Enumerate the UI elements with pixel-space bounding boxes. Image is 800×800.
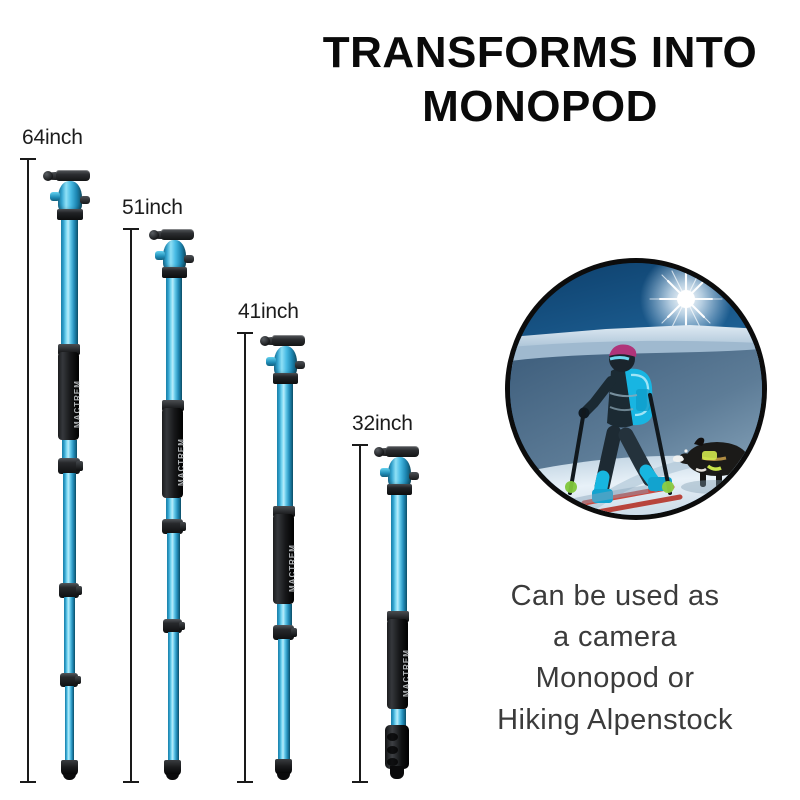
collapsed-lock-notch-2-32 bbox=[387, 746, 398, 754]
flip-lock-1-51[interactable] bbox=[162, 519, 183, 534]
leg-section-1-32 bbox=[391, 495, 407, 613]
quick-release-knob-64 bbox=[43, 171, 53, 181]
foot-tip-51 bbox=[166, 774, 179, 780]
foot-tip-41 bbox=[277, 773, 290, 780]
tension-knob-32 bbox=[409, 472, 419, 480]
dimension-label-51inch: 51inch bbox=[122, 196, 183, 220]
flip-lock-3-64[interactable] bbox=[60, 673, 78, 687]
caption-line-4: Hiking Alpenstock bbox=[440, 700, 790, 741]
flip-lock-lever-1-41[interactable] bbox=[291, 628, 297, 637]
leg-section-3-64 bbox=[63, 473, 76, 585]
caption-line-1: Can be used as bbox=[440, 576, 790, 617]
pan-lock-knob-51 bbox=[155, 251, 165, 260]
brand-text-51: MACTREM bbox=[177, 438, 186, 486]
dimension-rule-51inch bbox=[130, 228, 132, 783]
quick-release-plate-41 bbox=[272, 335, 305, 346]
leg-section-4-51 bbox=[168, 632, 179, 762]
pan-lock-knob-64 bbox=[50, 192, 60, 201]
pan-lock-knob-32 bbox=[380, 468, 390, 477]
headline-line-1: TRANSFORMS INTO bbox=[300, 26, 780, 80]
caption-line-2: a camera bbox=[440, 617, 790, 658]
leg-section-4-64 bbox=[64, 597, 75, 675]
headline-line-2: MONOPOD bbox=[300, 80, 780, 134]
lifestyle-photo bbox=[505, 258, 767, 520]
head-collar-32 bbox=[387, 484, 412, 495]
quick-release-plate-51 bbox=[161, 229, 194, 240]
flip-lock-2-51[interactable] bbox=[163, 619, 182, 633]
dimension-label-32inch: 32inch bbox=[352, 412, 413, 436]
flip-lock-1-64[interactable] bbox=[58, 458, 80, 474]
dimension-rule-64inch bbox=[27, 158, 29, 783]
dimension-rule-32inch bbox=[359, 444, 361, 783]
quick-release-plate-32 bbox=[386, 446, 419, 457]
collapsed-lock-notch-1-32 bbox=[387, 733, 398, 741]
collapsed-lock-notch-3-32 bbox=[387, 758, 398, 766]
product-feature-graphic: TRANSFORMS INTO MONOPOD 64inch MACTREM bbox=[0, 0, 800, 800]
flip-lock-2-64[interactable] bbox=[59, 583, 79, 598]
page-title: TRANSFORMS INTO MONOPOD bbox=[300, 26, 780, 133]
quick-release-knob-32 bbox=[374, 447, 384, 457]
leg-section-3-51 bbox=[167, 533, 180, 621]
head-collar-64 bbox=[57, 209, 83, 220]
flip-lock-lever-2-51[interactable] bbox=[179, 622, 185, 630]
head-collar-51 bbox=[162, 267, 187, 278]
feature-caption: Can be used as a camera Monopod or Hikin… bbox=[440, 576, 790, 741]
dimension-label-64inch: 64inch bbox=[22, 126, 83, 150]
caption-line-3: Monopod or bbox=[440, 658, 790, 699]
tension-knob-64 bbox=[80, 196, 90, 204]
quick-release-plate-64 bbox=[56, 170, 90, 181]
lifestyle-photo-illustration bbox=[510, 263, 762, 515]
tension-knob-51 bbox=[184, 255, 194, 263]
foot-tip-64 bbox=[63, 774, 76, 780]
leg-section-5-64 bbox=[65, 686, 74, 762]
flip-lock-lever-1-64[interactable] bbox=[76, 461, 83, 471]
brand-text-41: MACTREM bbox=[288, 544, 297, 592]
leg-section-1-64 bbox=[61, 220, 78, 344]
dimension-rule-41inch bbox=[244, 332, 246, 783]
leg-section-1-41 bbox=[277, 384, 293, 508]
flip-lock-lever-2-64[interactable] bbox=[76, 586, 82, 595]
pan-lock-knob-41 bbox=[266, 357, 276, 366]
flip-lock-lever-1-51[interactable] bbox=[180, 522, 186, 531]
dimension-label-41inch: 41inch bbox=[238, 300, 299, 324]
tension-knob-41 bbox=[295, 361, 305, 369]
brand-text-64: MACTREM bbox=[73, 380, 82, 428]
leg-section-1-51 bbox=[166, 278, 182, 402]
flip-lock-1-41[interactable] bbox=[273, 625, 294, 640]
leg-section-3-41 bbox=[278, 639, 290, 761]
quick-release-knob-41 bbox=[260, 336, 270, 346]
foot-tip-32 bbox=[390, 766, 404, 779]
flip-lock-lever-3-64[interactable] bbox=[75, 676, 81, 684]
quick-release-knob-51 bbox=[149, 230, 159, 240]
brand-text-32: MACTREM bbox=[402, 649, 411, 697]
head-collar-41 bbox=[273, 373, 298, 384]
